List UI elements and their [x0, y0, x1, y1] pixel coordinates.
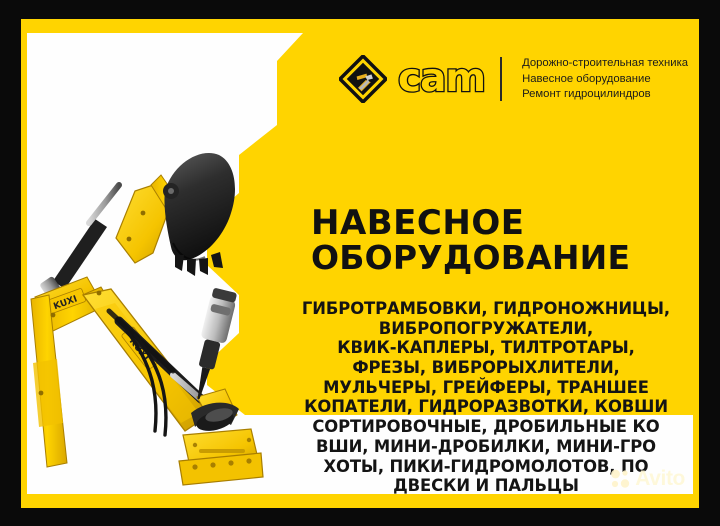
headline-line-1: НАВЕСНОЕ: [311, 205, 693, 241]
avito-watermark: Avito: [610, 468, 685, 489]
body-line: ВШИ, МИНИ-ДРОБИЛКИ, МИНИ-ГРО: [279, 437, 693, 457]
avito-dots-logo-icon: [610, 469, 630, 489]
body-line: ВИБРОПОГРУЖАТЕЛИ,: [279, 319, 693, 339]
body-line: КОПАТЕЛИ, ГИДРОРАЗВОТКИ, КОВШИ: [279, 397, 693, 417]
excavator-illustration: KUXI KUXI: [27, 63, 295, 493]
body-line: СОРТИРОВОЧНЫЕ, ДРОБИЛЬНЫЕ КО: [279, 417, 693, 437]
body-line: ФРЕЗЫ, ВИБРОРЫХЛИТЕЛИ,: [279, 358, 693, 378]
tagline-line-3: Ремонт гидроцилиндров: [522, 87, 688, 101]
page-title: НАВЕСНОЕ ОБОРУДОВАНИЕ: [311, 205, 693, 276]
tagline-line-2: Навесное оборудование: [522, 72, 688, 86]
brand-wordmark: cam: [398, 59, 485, 98]
body-line: КВИК-КАПЛЕРЫ, ТИЛТРОТАРЫ,: [279, 338, 693, 358]
tagline-line-1: Дорожно-строительная техника: [522, 56, 688, 70]
excavator-diamond-logo-icon: [339, 55, 387, 103]
brand-tagline: Дорожно-строительная техника Навесное об…: [522, 56, 688, 101]
brand-header: cam Дорожно-строительная техника Навесно…: [339, 55, 688, 103]
avito-label: Avito: [635, 468, 685, 489]
headline-line-2: ОБОРУДОВАНИЕ: [311, 241, 693, 276]
body-line: МУЛЬЧЕРЫ, ГРЕЙФЕРЫ, ТРАНШЕЕ: [279, 378, 693, 398]
banner-canvas: KUXI KUXI: [27, 33, 693, 494]
product-list-text: ГИБРОТРАМБОВКИ, ГИДРОНОЖНИЦЫ, ВИБРОПОГРУ…: [279, 299, 693, 494]
advertisement-banner: KUXI KUXI: [0, 0, 720, 526]
body-line: ГИБРОТРАМБОВКИ, ГИДРОНОЖНИЦЫ,: [279, 299, 693, 319]
header-divider-icon: [500, 57, 502, 101]
